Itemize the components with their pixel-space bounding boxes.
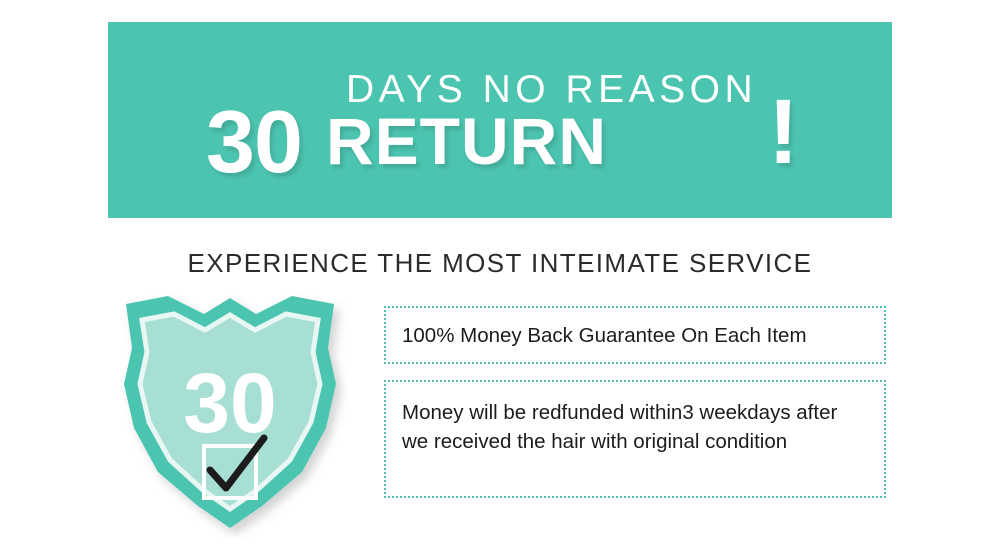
shield-icon: 30 [112, 288, 348, 538]
banner-return-word: RETURN [326, 108, 607, 174]
guarantee-box-money-back: 100% Money Back Guarantee On Each Item [384, 306, 886, 364]
shield-badge: 30 [112, 288, 348, 538]
banner-number: 30 [206, 98, 302, 186]
banner-exclamation-mark: ! [768, 86, 799, 178]
guarantee-text: 100% Money Back Guarantee On Each Item [402, 321, 807, 350]
promo-banner-content: DAYS NO REASON 30 RETURN ! [108, 22, 892, 218]
guarantee-text: Money will be redfunded within3 weekdays… [402, 382, 868, 456]
guarantee-box-refund-window: Money will be redfunded within3 weekdays… [384, 380, 886, 498]
promo-banner: DAYS NO REASON 30 RETURN ! [108, 22, 892, 218]
page-subtitle: EXPERIENCE THE MOST INTEIMATE SERVICE [0, 248, 1000, 279]
